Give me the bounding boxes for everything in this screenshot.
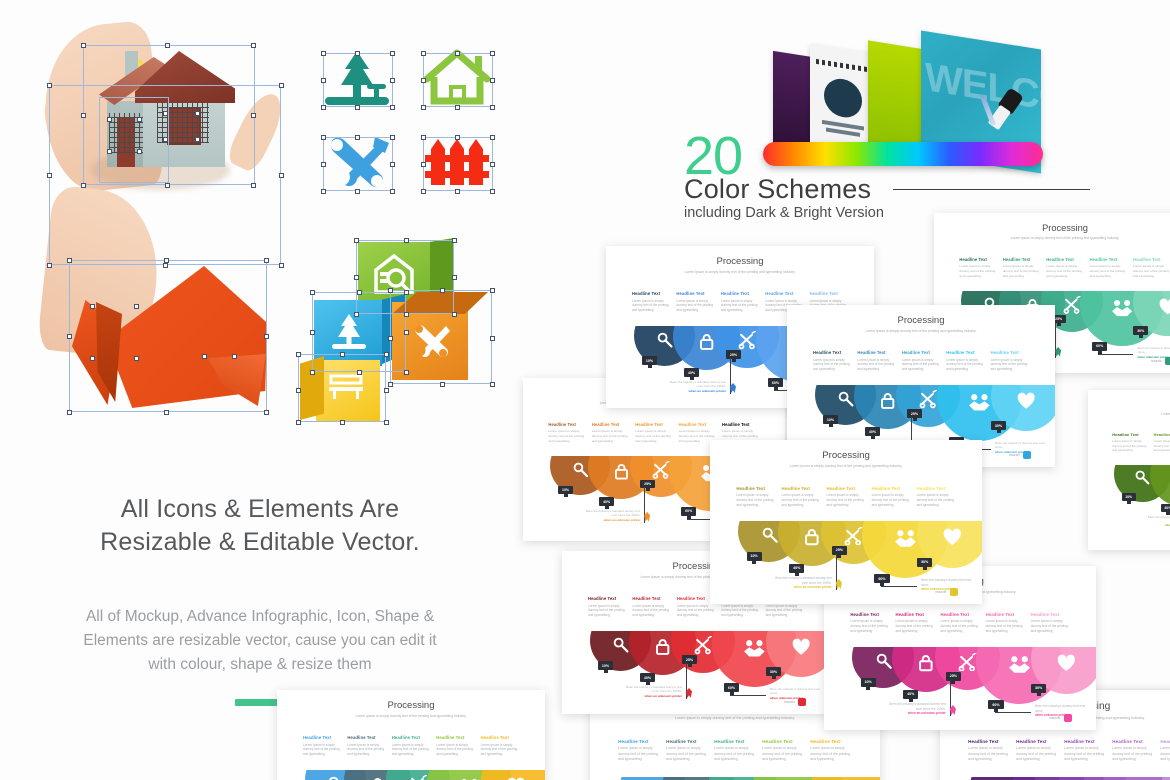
selection-bounds-icon-3[interactable] <box>323 137 393 191</box>
scissors-icon <box>738 331 757 350</box>
column-body: Lorem Ipsum is simply dummy text of the … <box>721 299 759 313</box>
column-body: Lorem Ipsum is simply dummy text of the … <box>857 358 895 372</box>
column-headline: Headline Text <box>635 422 673 427</box>
handshake-icon <box>967 392 992 417</box>
slide-subtitle: Lorem Ipsum is simply dummy text of the … <box>277 714 545 718</box>
heart-hand-icon <box>942 527 963 548</box>
percentage-badge: 60% <box>724 683 739 692</box>
column-body: Lorem Ipsum is simply dummy text of the … <box>635 429 673 443</box>
selection-handle[interactable] <box>490 78 495 83</box>
column-body: Lorem Ipsum is simply dummy text of the … <box>632 604 670 618</box>
column-headline: Headline Text <box>1154 432 1170 437</box>
selection-handle[interactable] <box>134 304 139 309</box>
headline-column: Headline TextLorem Ipsum is simply dummy… <box>810 739 852 762</box>
process-blob[interactable] <box>1161 777 1170 780</box>
selection-handle[interactable] <box>421 135 426 140</box>
selection-handle[interactable] <box>390 78 395 83</box>
selection-handle[interactable] <box>164 410 169 415</box>
selection-handle[interactable] <box>440 288 445 293</box>
column-body: Lorem Ipsum is simply dummy text of the … <box>632 299 670 313</box>
selection-handle[interactable] <box>354 312 359 317</box>
selection-handle[interactable] <box>384 388 389 393</box>
note-link[interactable]: when an unknown printer <box>773 585 832 590</box>
column-body: Lorem Ipsum is simply dummy text of the … <box>959 264 997 278</box>
selection-bounds-cube-yellow[interactable] <box>298 354 386 422</box>
selection-handle[interactable] <box>81 183 86 188</box>
lock-icon <box>612 462 631 481</box>
headline-column: Headline TextLorem Ipsum is simply dummy… <box>946 350 984 372</box>
lock-icon <box>878 391 897 410</box>
lock-icon <box>653 637 672 656</box>
column-body: Lorem Ipsum is simply dummy text of the … <box>810 746 852 762</box>
slide-logo: mazzle <box>1151 357 1170 365</box>
heart-hand-icon <box>1056 653 1077 674</box>
headline-column: Headline TextLorem Ipsum is simply dummy… <box>1160 739 1170 762</box>
left-headline-line1: All Icons & Elements Are <box>0 493 520 526</box>
headline-column: Headline TextLorem Ipsum is simply dummy… <box>959 257 997 279</box>
slide-multi[interactable]: ProcessingLorem Ipsum is simply dummy te… <box>277 690 545 780</box>
slide-note: Been the industry's standard dummy text … <box>773 576 832 590</box>
connector-line <box>881 586 918 587</box>
slide-yellow[interactable]: ProcessingLorem Ipsum is simply dummy te… <box>710 440 982 604</box>
headline-column: Headline TextLorem Ipsum is simply dummy… <box>303 735 341 757</box>
percentage-badge: 60% <box>988 700 1003 709</box>
column-body: Lorem Ipsum is simply dummy text of the … <box>850 619 889 634</box>
scissors-icon <box>844 527 863 546</box>
handshake-icon <box>893 528 918 553</box>
selection-handle[interactable] <box>404 290 409 295</box>
selection-handle[interactable] <box>388 336 393 341</box>
selection-handle[interactable] <box>355 105 360 110</box>
selection-handle[interactable] <box>440 382 445 387</box>
selection-handle[interactable] <box>296 420 301 425</box>
logo-mark <box>1165 357 1170 365</box>
heart-hand-icon <box>791 637 811 657</box>
selection-handle[interactable] <box>296 388 301 393</box>
selection-handle[interactable] <box>455 135 460 140</box>
selection-handle[interactable] <box>357 290 362 295</box>
process-blob[interactable] <box>1102 777 1170 780</box>
selection-handle[interactable] <box>421 78 426 83</box>
selection-handle[interactable] <box>490 135 495 140</box>
column-headline: Headline Text <box>548 422 586 427</box>
logo-text: mazzle <box>1049 716 1060 720</box>
color-schemes-title: Color Schemes <box>684 176 871 203</box>
key-icon <box>761 526 779 544</box>
slide-subtitle: Lorem Ipsum is simply dummy text of the … <box>787 329 1055 333</box>
headline-columns: Headline TextLorem Ipsum is simply dummy… <box>1112 432 1170 453</box>
selection-handle[interactable] <box>310 290 315 295</box>
selection-handle[interactable] <box>310 330 315 335</box>
selection-handle[interactable] <box>404 312 409 317</box>
selection-handle[interactable] <box>90 356 95 361</box>
column-body: Lorem Ipsum is simply dummy text of the … <box>588 604 626 618</box>
slide-title: Processing <box>1088 399 1170 409</box>
selection-handle[interactable] <box>490 288 495 293</box>
left-body-text: All of Mockup, Advance Infographic, Icon… <box>55 605 465 677</box>
percentage-badge: 10% <box>861 678 876 687</box>
percentage-badge: 10% <box>823 415 838 424</box>
selection-handle[interactable] <box>279 263 284 268</box>
presentation-preview-stack[interactable]: WELCOME <box>755 36 1055 166</box>
selection-handle[interactable] <box>490 189 495 194</box>
column-headline: Headline Text <box>895 612 934 617</box>
column-body: Lorem Ipsum is simply dummy text of the … <box>592 429 630 443</box>
selection-handle[interactable] <box>81 113 86 118</box>
column-body: Lorem Ipsum is simply dummy text of the … <box>941 619 980 634</box>
headline-column: Headline TextLorem Ipsum is simply dummy… <box>1133 257 1170 279</box>
blob-row <box>940 777 1170 780</box>
selection-handle[interactable] <box>390 162 395 167</box>
selection-handle[interactable] <box>107 149 112 154</box>
selection-handle[interactable] <box>421 51 426 56</box>
key-icon <box>1134 469 1150 485</box>
selection-handle[interactable] <box>165 183 170 188</box>
column-headline: Headline Text <box>1160 739 1170 744</box>
selection-handle[interactable] <box>357 370 362 375</box>
percentage-badge: 40% <box>903 690 918 699</box>
selection-handle[interactable] <box>47 173 52 178</box>
percentage-badge: 25% <box>907 409 922 418</box>
selection-handle[interactable] <box>195 111 200 116</box>
column-headline: Headline Text <box>1016 739 1058 744</box>
selection-handle[interactable] <box>404 238 409 243</box>
column-body: Lorem Ipsum is simply dummy text of the … <box>946 358 984 372</box>
selection-handle[interactable] <box>163 137 168 142</box>
column-body: Lorem Ipsum is simply dummy text of the … <box>766 604 804 618</box>
headline-column: Headline TextLorem Ipsum is simply dummy… <box>632 596 670 618</box>
heart-hand-icon <box>506 776 526 780</box>
logo-text: mazzle <box>1009 453 1020 457</box>
headline-columns: Headline TextLorem Ipsum is simply dummy… <box>813 350 1029 372</box>
selection-handle[interactable] <box>321 51 326 56</box>
column-body: Lorem Ipsum is simply dummy text of the … <box>1112 439 1148 452</box>
selection-bounds-3[interactable] <box>99 97 169 183</box>
selection-handle[interactable] <box>195 137 200 142</box>
left-headline: All Icons & Elements Are Resizable & Edi… <box>0 493 520 559</box>
key-icon <box>837 390 855 408</box>
column-headline: Headline Text <box>917 486 956 491</box>
icon-grid[interactable] <box>315 45 500 205</box>
column-body: Lorem Ipsum is simply dummy text of the … <box>762 746 804 762</box>
column-body: Lorem Ipsum is simply dummy text of the … <box>721 604 759 618</box>
headline-column: Headline TextLorem Ipsum is simply dummy… <box>857 350 895 372</box>
headline-column: Headline TextLorem Ipsum is simply dummy… <box>1046 257 1084 279</box>
selection-handle[interactable] <box>455 105 460 110</box>
selection-handle[interactable] <box>455 189 460 194</box>
selection-handle[interactable] <box>47 83 52 88</box>
column-body: Lorem Ipsum is simply dummy text of the … <box>1090 264 1128 278</box>
column-headline: Headline Text <box>666 739 708 744</box>
selection-handle[interactable] <box>264 334 269 339</box>
selection-handle[interactable] <box>388 382 393 387</box>
selection-handle[interactable] <box>67 410 72 415</box>
slide-logo: mazzle <box>784 698 806 706</box>
selection-handle[interactable] <box>490 105 495 110</box>
percentage-badge: 10% <box>1122 493 1136 501</box>
headline-column: Headline TextLorem Ipsum is simply dummy… <box>1031 612 1070 634</box>
selection-handle[interactable] <box>490 51 495 56</box>
column-body: Lorem Ipsum is simply dummy text of the … <box>1064 746 1106 762</box>
column-headline: Headline Text <box>721 291 759 296</box>
selection-bounds-icon-2[interactable] <box>423 53 493 107</box>
selection-handle[interactable] <box>354 238 359 243</box>
selection-handle[interactable] <box>455 51 460 56</box>
scissors-icon <box>694 636 713 655</box>
selection-handle[interactable] <box>354 275 359 280</box>
note-text: Been the industry's dummy text ever sinc… <box>770 687 820 695</box>
selection-handle[interactable] <box>67 258 72 263</box>
headline-column: Headline TextLorem Ipsum is simply dummy… <box>872 486 911 508</box>
selection-handle[interactable] <box>490 162 495 167</box>
note-link[interactable]: when an unknown printer <box>887 711 946 716</box>
selection-handle[interactable] <box>390 105 395 110</box>
column-body: Lorem Ipsum is simply dummy text of the … <box>1003 264 1041 278</box>
selection-handle[interactable] <box>452 312 457 317</box>
headline-column: Headline TextLorem Ipsum is simply dummy… <box>1112 739 1154 762</box>
key-icon <box>612 636 630 654</box>
column-body: Lorem Ipsum is simply dummy text of the … <box>968 746 1010 762</box>
headline-column: Headline TextLorem Ipsum is simply dummy… <box>347 735 385 757</box>
hands-holding-house-illustration[interactable] <box>45 25 290 265</box>
column-body: Lorem Ipsum is simply dummy text of the … <box>872 493 911 508</box>
column-headline: Headline Text <box>1046 257 1084 262</box>
headline-column: Headline TextLorem Ipsum is simply dummy… <box>991 350 1029 372</box>
selection-handle[interactable] <box>251 113 256 118</box>
headline-column: Headline TextLorem Ipsum is simply dummy… <box>762 739 804 762</box>
slide-olive-green[interactable]: ProcessingLorem Ipsum is simply dummy te… <box>1088 390 1170 550</box>
note-text: Been the industry's standard dummy text … <box>586 509 641 517</box>
column-headline: Headline Text <box>959 257 997 262</box>
headline-column: Headline TextLorem Ipsum is simply dummy… <box>1064 739 1106 762</box>
selection-handle[interactable] <box>321 78 326 83</box>
column-headline: Headline Text <box>481 735 519 740</box>
selection-handle[interactable] <box>67 334 72 339</box>
selection-handle[interactable] <box>264 258 269 263</box>
connector-line <box>730 695 766 696</box>
selection-handle[interactable] <box>137 117 142 122</box>
column-body: Lorem Ipsum is simply dummy text of the … <box>677 604 715 618</box>
selection-handle[interactable] <box>107 117 112 122</box>
column-body: Lorem Ipsum is simply dummy text of the … <box>548 429 586 443</box>
selection-handle[interactable] <box>202 354 207 359</box>
headline-column: Headline TextLorem Ipsum is simply dummy… <box>1112 432 1148 453</box>
selection-handle[interactable] <box>164 258 169 263</box>
headline-column: Headline TextLorem Ipsum is simply dummy… <box>1003 257 1041 279</box>
slide-title: Processing <box>934 223 1170 233</box>
process-blob[interactable] <box>811 777 880 780</box>
selection-handle[interactable] <box>384 420 389 425</box>
selection-handle[interactable] <box>264 410 269 415</box>
selection-handle[interactable] <box>452 238 457 243</box>
slide-title: Processing <box>277 700 545 711</box>
selection-handle[interactable] <box>355 51 360 56</box>
selection-handle[interactable] <box>390 51 395 56</box>
column-body: Lorem Ipsum is simply dummy text of the … <box>827 493 866 508</box>
selection-handle[interactable] <box>404 370 409 375</box>
selection-handle[interactable] <box>390 189 395 194</box>
selection-handle[interactable] <box>251 43 256 48</box>
preview-title-bars <box>816 59 868 72</box>
column-headline: Headline Text <box>632 596 670 601</box>
3d-cubes-illustration[interactable] <box>300 238 490 418</box>
selection-handle[interactable] <box>340 352 345 357</box>
headline-column: Headline TextLorem Ipsum is simply dummy… <box>917 486 956 508</box>
preview-avatar-circle <box>824 76 862 120</box>
note-text: Been the industry's dummy text ever sinc… <box>1137 346 1170 354</box>
selection-handle[interactable] <box>490 382 495 387</box>
connector-line <box>1098 354 1133 355</box>
column-headline: Headline Text <box>714 739 756 744</box>
selection-handle[interactable] <box>355 189 360 194</box>
left-body-line1: All of Mockup, Advance Infographic, Icon… <box>55 605 465 629</box>
screenshot-canvas: All Icons & Elements Are Resizable & Edi… <box>0 0 1170 780</box>
headline-column: Headline TextLorem Ipsum is simply dummy… <box>781 486 820 508</box>
note-text: Been the industry's dummy text ever sinc… <box>921 578 971 587</box>
headline-column: Headline TextLorem Ipsum is simply dummy… <box>635 422 673 444</box>
selection-handle[interactable] <box>388 288 393 293</box>
scissors-icon <box>652 461 670 479</box>
selection-handle[interactable] <box>232 354 237 359</box>
selection-handle[interactable] <box>490 336 495 341</box>
selection-handle[interactable] <box>355 135 360 140</box>
column-headline: Headline Text <box>781 486 820 491</box>
selection-handle[interactable] <box>310 370 315 375</box>
handshake-icon <box>1007 654 1032 679</box>
selection-handle[interactable] <box>47 263 52 268</box>
key-icon <box>327 775 345 780</box>
headline-columns: Headline TextLorem Ipsum is simply dummy… <box>736 486 955 508</box>
column-body: Lorem Ipsum is simply dummy text of the … <box>1016 746 1058 762</box>
column-body: Lorem Ipsum is simply dummy text of the … <box>1160 746 1170 762</box>
headline-column: Headline TextLorem Ipsum is simply dummy… <box>676 291 714 313</box>
column-headline: Headline Text <box>303 735 341 740</box>
headline-column: Headline TextLorem Ipsum is simply dummy… <box>813 350 851 372</box>
selection-handle[interactable] <box>251 183 256 188</box>
percentage-badge: 40% <box>684 368 699 377</box>
percentage-badge: 40% <box>1161 504 1170 512</box>
selection-handle[interactable] <box>163 111 168 116</box>
slide-note: Been the industry's standard dummy text … <box>1146 515 1170 528</box>
selection-handle[interactable] <box>421 189 426 194</box>
column-body: Lorem Ipsum is simply dummy text of the … <box>736 493 775 508</box>
blob-row <box>277 770 545 780</box>
heart-hand-icon <box>1158 297 1170 317</box>
note-link[interactable]: when an unknown printer <box>584 518 641 522</box>
selection-handle[interactable] <box>321 189 326 194</box>
percentage-badge: 40% <box>865 427 880 436</box>
selection-handle[interactable] <box>134 356 139 361</box>
column-headline: Headline Text <box>765 291 803 296</box>
selection-handle[interactable] <box>90 304 95 309</box>
note-link[interactable]: when an unknown printer <box>624 694 682 698</box>
column-headline: Headline Text <box>618 739 660 744</box>
headline-column: Headline TextLorem Ipsum is simply dummy… <box>1154 432 1170 453</box>
headline-column: Headline TextLorem Ipsum is simply dummy… <box>392 735 430 757</box>
column-headline: Headline Text <box>810 291 848 296</box>
slide-subtitle: Lorem Ipsum is simply dummy text of the … <box>710 464 982 468</box>
selection-handle[interactable] <box>321 105 326 110</box>
lock-icon <box>697 332 716 351</box>
selection-handle[interactable] <box>452 275 457 280</box>
percentage-badge: 30% <box>766 667 781 676</box>
column-headline: Headline Text <box>902 350 940 355</box>
selection-handle[interactable] <box>404 330 409 335</box>
selection-handle[interactable] <box>279 173 284 178</box>
column-headline: Headline Text <box>722 422 760 427</box>
note-link[interactable]: when an unknown printer <box>1146 523 1170 527</box>
headline-column: Headline TextLorem Ipsum is simply dummy… <box>850 612 889 634</box>
lock-icon <box>916 653 936 673</box>
column-headline: Headline Text <box>991 350 1029 355</box>
logo-mark <box>950 588 958 596</box>
preview-slide-dark-purple <box>773 51 813 155</box>
logo-mark <box>1064 714 1072 722</box>
column-body: Lorem Ipsum is simply dummy text of the … <box>1133 264 1170 278</box>
column-body: Lorem Ipsum is simply dummy text of the … <box>917 493 956 508</box>
column-headline: Headline Text <box>632 291 670 296</box>
percentage-badge: 40% <box>640 673 655 682</box>
selection-handle[interactable] <box>321 162 326 167</box>
percentage-badge: 30% <box>1133 326 1148 335</box>
left-body-line2: Elements are resizable vector, cause you… <box>55 629 465 653</box>
column-headline: Headline Text <box>347 735 385 740</box>
selection-handle[interactable] <box>390 135 395 140</box>
percentage-badge: 60% <box>874 574 889 583</box>
column-body: Lorem Ipsum is simply dummy text of the … <box>666 746 708 762</box>
logo-text: mazzle <box>784 700 795 704</box>
logo-text: mazzle <box>1151 359 1162 363</box>
selection-bounds-shape[interactable] <box>69 260 267 412</box>
selection-handle[interactable] <box>384 352 389 357</box>
headline-column: Headline TextLorem Ipsum is simply dummy… <box>592 422 630 444</box>
note-text: Been the industry's standard dummy text … <box>775 576 832 585</box>
column-headline: Headline Text <box>588 596 626 601</box>
note-link[interactable]: when an unknown printer <box>668 389 726 393</box>
selection-handle[interactable] <box>421 162 426 167</box>
handshake-icon <box>1110 298 1134 322</box>
percentage-badge: 30% <box>991 421 1006 430</box>
selection-handle[interactable] <box>321 135 326 140</box>
column-body: Lorem Ipsum is simply dummy text of the … <box>895 619 934 634</box>
slide-logo: mazzle <box>935 588 957 596</box>
column-headline: Headline Text <box>1090 257 1128 262</box>
slide-subtitle: Lorem Ipsum is simply dummy text of the … <box>606 270 874 274</box>
scissors-icon <box>1063 296 1081 314</box>
left-headline-line2: Resizable & Editable Vector. <box>0 526 520 559</box>
headline-columns: Headline TextLorem Ipsum is simply dummy… <box>850 612 1069 634</box>
percentage-badge: 60% <box>768 378 783 387</box>
selection-handle[interactable] <box>296 352 301 357</box>
headline-column: Headline TextLorem Ipsum is simply dummy… <box>895 612 934 634</box>
selection-handle[interactable] <box>81 43 86 48</box>
lock-icon <box>368 776 387 780</box>
headline-column: Headline TextLorem Ipsum is simply dummy… <box>986 612 1025 634</box>
selection-handle[interactable] <box>340 420 345 425</box>
selection-handle[interactable] <box>279 83 284 88</box>
selection-handle[interactable] <box>165 43 170 48</box>
note-text: Been the industry's standard dummy text … <box>1148 515 1170 523</box>
selection-bounds-icon-1[interactable] <box>323 53 393 107</box>
folded-orange-shape[interactable] <box>72 262 272 417</box>
selection-handle[interactable] <box>421 105 426 110</box>
headline-column: Headline TextLorem Ipsum is simply dummy… <box>714 739 756 762</box>
selection-bounds-icon-4[interactable] <box>423 137 493 191</box>
slide-title: Processing <box>787 315 1055 326</box>
selection-handle[interactable] <box>137 149 142 154</box>
note-text: Been the industry's dummy text ever sinc… <box>995 441 1045 449</box>
column-headline: Headline Text <box>827 486 866 491</box>
